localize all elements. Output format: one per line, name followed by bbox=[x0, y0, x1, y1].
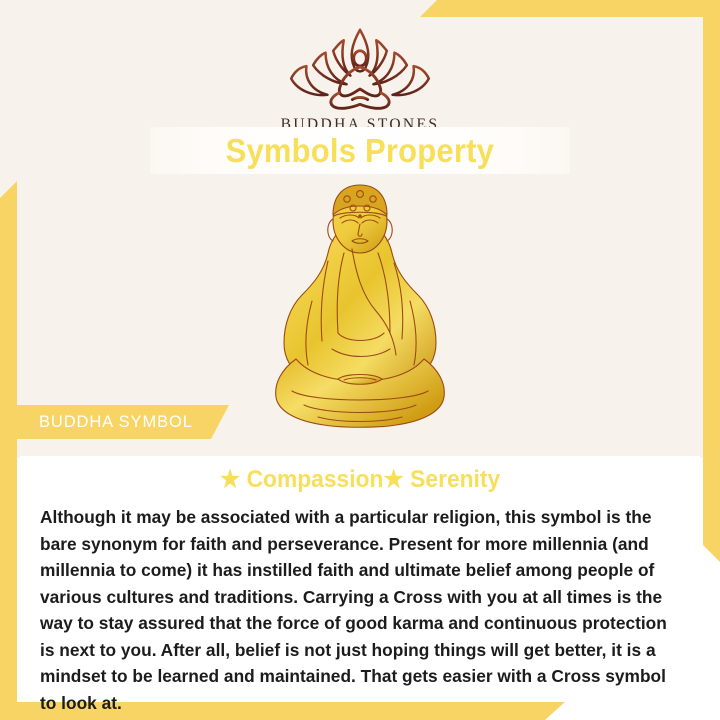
decor-bar-top-right bbox=[420, 0, 720, 17]
brand-logo: BUDDHA STONES bbox=[0, 24, 720, 134]
category-tag: BUDDHA SYMBOL bbox=[17, 405, 229, 439]
title-banner: Symbols Property bbox=[150, 127, 570, 174]
page-title: Symbols Property bbox=[226, 132, 494, 170]
seated-golden-buddha-illustration bbox=[252, 183, 468, 441]
poster-root: BUDDHA STONES Symbols Property bbox=[0, 0, 720, 720]
lotus-meditation-icon bbox=[282, 24, 438, 112]
hero-image bbox=[252, 183, 468, 441]
decor-bar-left bbox=[0, 181, 17, 702]
content-card: ★ Compassion★ Serenity Although it may b… bbox=[20, 456, 700, 694]
content-paragraph: Although it may be associated with a par… bbox=[40, 504, 670, 716]
category-tag-label: BUDDHA SYMBOL bbox=[39, 413, 193, 432]
content-subtitle: ★ Compassion★ Serenity bbox=[56, 465, 664, 494]
